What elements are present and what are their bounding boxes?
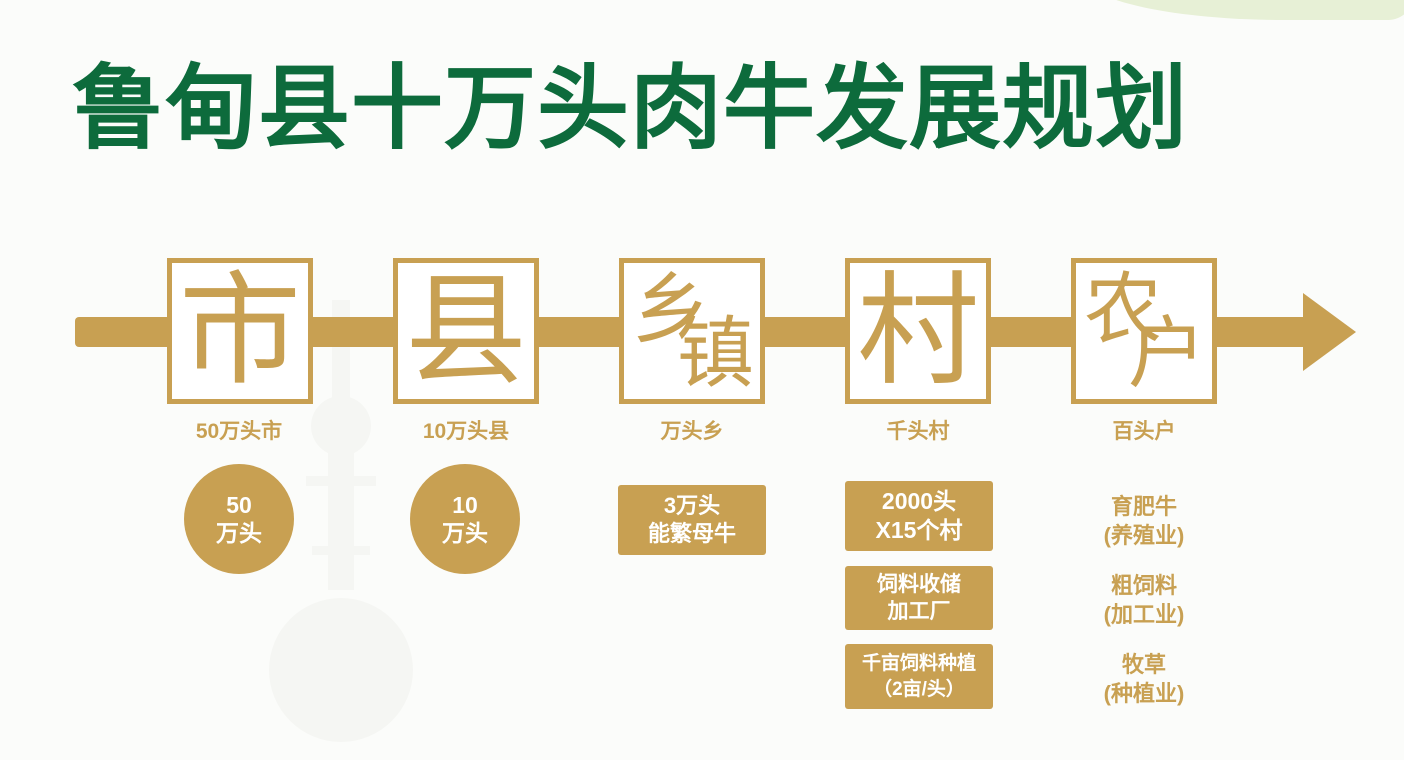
info-text-household-fattening-line-2: (养殖业): [1044, 521, 1244, 550]
stage-label-county: 10万头县: [361, 415, 571, 445]
info-box-village-feed-plant-line-2: 加工厂: [888, 598, 951, 625]
top-right-green-band: [1084, 0, 1404, 20]
flow-arrow-head-icon: [1303, 293, 1356, 371]
stage-box-household[interactable]: 农 户: [1071, 258, 1217, 404]
info-box-township-breeding-cows[interactable]: 3万头 能繁母牛: [618, 485, 766, 555]
stage-label-city: 50万头市: [134, 415, 344, 445]
info-box-village-feed-plant[interactable]: 饲料收储 加工厂: [845, 566, 993, 630]
info-box-village-cattle-line-2: X15个村: [876, 516, 963, 545]
household-glyph-part-2: 户: [1128, 315, 1206, 393]
info-text-household-forage: 牧草 (种植业): [1044, 650, 1244, 708]
info-text-household-fattening-line-1: 育肥牛: [1044, 492, 1244, 521]
metric-circle-county[interactable]: 10 万头: [410, 464, 520, 574]
stage-box-township[interactable]: 乡 镇: [619, 258, 765, 404]
township-glyph: 乡 镇: [624, 263, 760, 399]
county-glyph: 县: [405, 270, 527, 392]
info-text-household-forage-line-1: 牧草: [1044, 650, 1244, 679]
info-text-household-roughage: 粗饲料 (加工业): [1044, 571, 1244, 629]
info-text-household-fattening: 育肥牛 (养殖业): [1044, 492, 1244, 550]
stage-label-village: 千头村: [813, 415, 1023, 445]
city-glyph: 市: [179, 270, 301, 392]
household-glyph: 农 户: [1076, 263, 1212, 399]
info-box-village-forage-planting[interactable]: 千亩饲料种植 （2亩/头）: [845, 644, 993, 709]
info-box-township-line-2: 能繁母牛: [648, 520, 736, 548]
township-glyph-part-2: 镇: [676, 315, 754, 393]
stage-box-county[interactable]: 县: [393, 258, 539, 404]
info-box-village-forage-line-2: （2亩/头）: [873, 677, 965, 703]
info-text-household-roughage-line-2: (加工业): [1044, 600, 1244, 629]
metric-circle-city-value: 50: [226, 491, 252, 519]
info-text-household-roughage-line-1: 粗饲料: [1044, 571, 1244, 600]
info-box-village-feed-plant-line-1: 饲料收储: [877, 571, 961, 598]
metric-circle-city[interactable]: 50 万头: [184, 464, 294, 574]
village-glyph: 村: [857, 270, 979, 392]
metric-circle-county-value: 10: [452, 491, 478, 519]
info-box-village-cattle[interactable]: 2000头 X15个村: [845, 481, 993, 551]
metric-circle-county-unit: 万头: [442, 519, 488, 547]
info-box-village-cattle-line-1: 2000头: [882, 487, 956, 516]
stage-box-city[interactable]: 市: [167, 258, 313, 404]
info-box-township-line-1: 3万头: [664, 492, 720, 520]
stage-label-household: 百头户: [1039, 415, 1249, 445]
metric-circle-city-unit: 万头: [216, 519, 262, 547]
info-box-village-forage-line-1: 千亩饲料种植: [862, 651, 976, 677]
page-title: 鲁甸县十万头肉牛发展规划: [72, 54, 1188, 164]
stage-label-township: 万头乡: [587, 415, 797, 445]
info-text-household-forage-line-2: (种植业): [1044, 679, 1244, 708]
stage-box-village[interactable]: 村: [845, 258, 991, 404]
infographic-canvas: 鲁甸县十万头肉牛发展规划 市 50万头市 县 10万头县 乡 镇 万头乡 村 千…: [0, 0, 1404, 735]
